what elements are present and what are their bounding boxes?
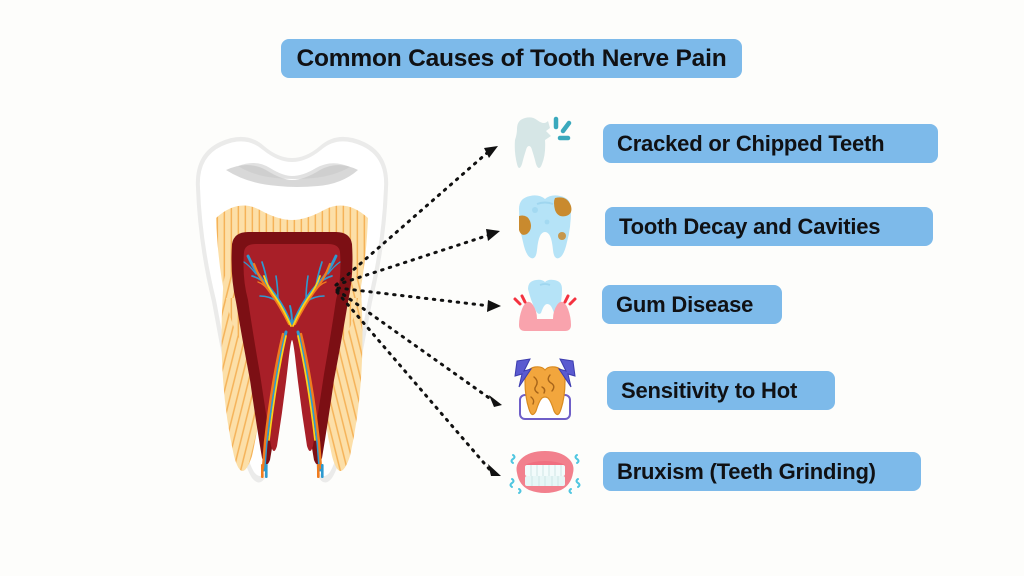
cause-pill-sensitivity-to-hot[interactable]: Sensitivity to Hot [607,371,835,410]
teeth-grinding-icon [505,445,585,497]
arrow-head-4 [489,395,502,407]
cracked-tooth-icon [508,112,580,178]
tooth-cross-section-diagram [186,126,398,488]
decayed-tooth-icon [511,192,579,264]
infographic-canvas: Common Causes of Tooth Nerve Pain [0,0,1024,576]
arrow-head-5 [488,464,501,476]
cause-pill-gum-disease[interactable]: Gum Disease [602,285,782,324]
root-apex-tips [261,464,324,478]
cause-label: Gum Disease [616,292,753,318]
gum-disease-icon [509,275,581,337]
cause-label: Tooth Decay and Cavities [619,214,880,240]
page-title-banner: Common Causes of Tooth Nerve Pain [281,39,742,78]
cause-pill-bruxism-teeth-grinding[interactable]: Bruxism (Teeth Grinding) [603,452,921,491]
sparkle-lines [556,119,569,138]
arrow-head-1 [484,146,498,158]
cause-pill-tooth-decay-and-cavities[interactable]: Tooth Decay and Cavities [605,207,933,246]
hot-sensitivity-icon [512,355,578,423]
cause-label: Cracked or Chipped Teeth [617,131,884,157]
cause-label: Sensitivity to Hot [621,378,797,404]
arrow-head-2 [486,229,500,241]
arrow-head-3 [487,300,501,312]
cause-label: Bruxism (Teeth Grinding) [617,459,876,485]
page-title: Common Causes of Tooth Nerve Pain [297,45,727,73]
cause-pill-cracked-or-chipped-teeth[interactable]: Cracked or Chipped Teeth [603,124,938,163]
